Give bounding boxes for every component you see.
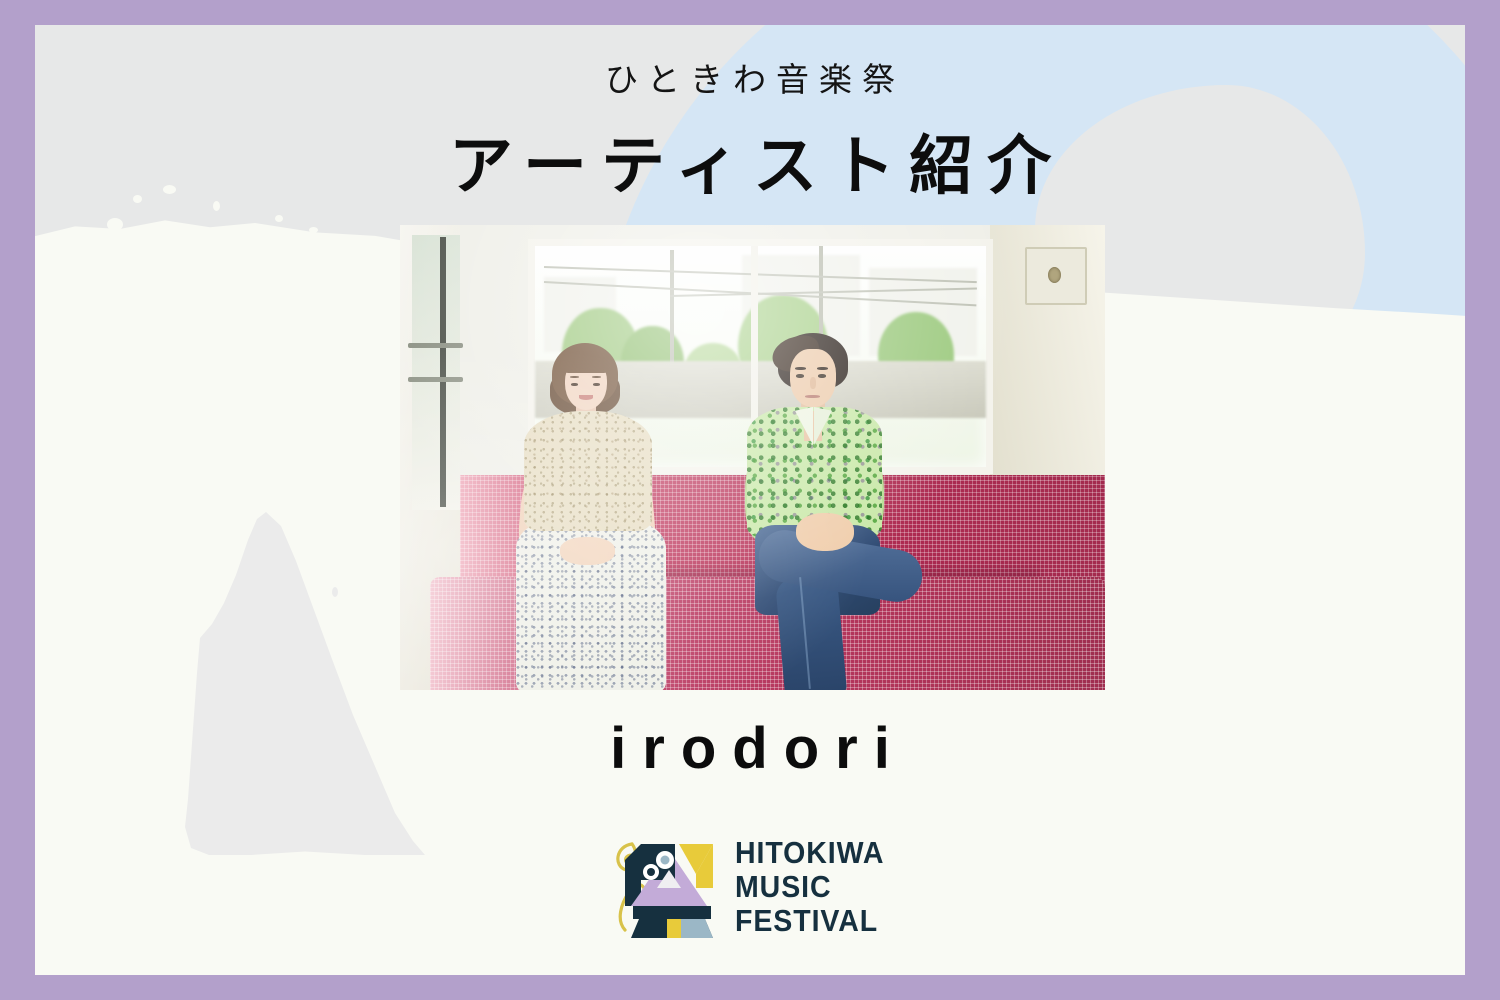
woman-bangs [560,351,612,373]
woman-eye-left [571,383,578,386]
side-window-glass [412,235,460,510]
man-leg-lower [775,575,847,690]
page-title: アーティスト紹介 [35,115,1465,207]
man-eye-right [818,374,826,378]
festival-logo-mark [603,830,719,942]
side-window-post [440,237,446,507]
logo-line-music: MUSIC [735,871,884,902]
man-mouth [805,395,820,398]
artist-photo [400,225,1105,690]
woman-eye-right [593,383,600,386]
woman-eyebrow-left [570,376,579,378]
man-hands [796,513,854,551]
logo-line-festival: FESTIVAL [735,905,884,936]
cream-speck [107,218,123,231]
festival-logo-text: HITOKIWA MUSIC FESTIVAL [735,837,884,936]
festival-subtitle: ひときわ音楽祭 [35,53,1465,101]
header-block: ひときわ音楽祭 アーティスト紹介 [35,25,1465,207]
man-eyebrow-right [817,367,828,370]
poster-root: ひときわ音楽祭 アーティスト紹介 [0,0,1500,1000]
gray-speck [332,587,338,597]
logo-line-hitokiwa: HITOKIWA [735,837,884,868]
woman-mouth [579,395,593,400]
woman-dress-top [524,411,652,531]
poster-canvas: ひときわ音楽祭 アーティスト紹介 [35,25,1465,975]
side-window-rail [408,343,463,348]
cream-speck [275,215,283,222]
festival-logo: HITOKIWA MUSIC FESTIVAL [35,830,1465,942]
gray-speck [217,797,223,805]
train-door-knob [1048,267,1061,283]
side-window-rail [408,377,463,382]
cream-speck [309,227,318,233]
woman-eyebrow-right [592,376,601,378]
woman-hands [560,537,615,565]
man-eye-left [796,374,804,378]
artist-name: irodori [35,715,1465,782]
man-eyebrow-left [795,367,806,370]
man-nose [810,377,816,389]
